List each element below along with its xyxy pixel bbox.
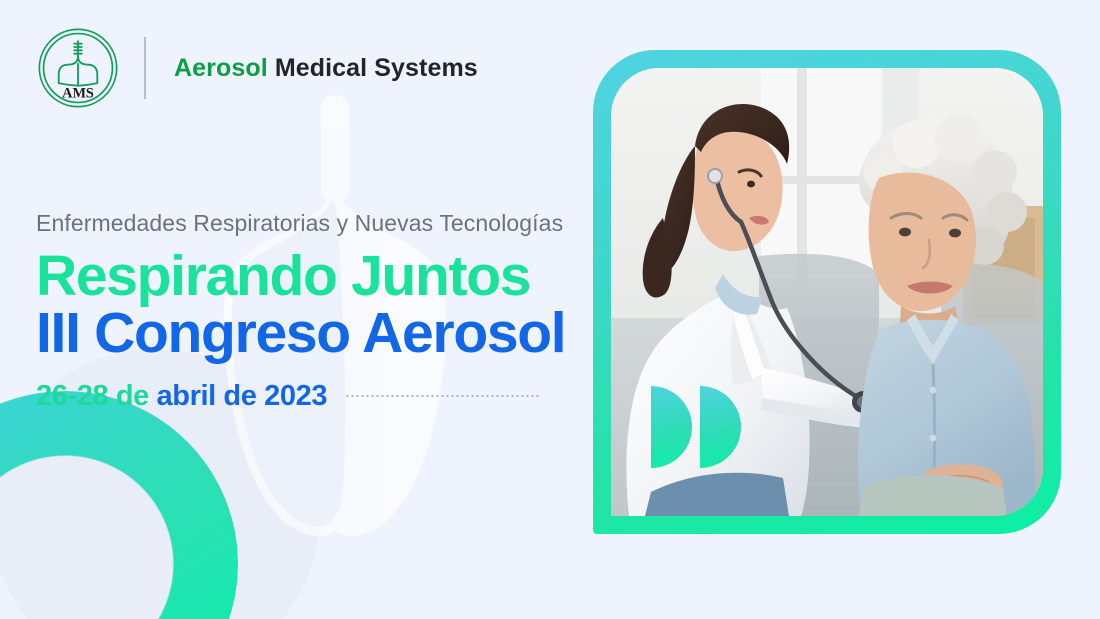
brand-name: Aerosol Medical Systems [174,54,478,83]
vertical-divider [144,37,146,99]
brand-name-highlight: Aerosol [174,54,268,82]
hero-title-line-1: Respirando Juntos [36,247,576,306]
double-half-disc-mark [651,386,741,468]
photo-inner [611,68,1043,516]
event-date: 26-28 de abril de 2023 [36,380,327,413]
half-disc-left [651,386,692,468]
congress-banner: AMS Aerosol Medical Systems Enfermedades… [0,0,1100,619]
brand-lockup: AMS Aerosol Medical Systems [36,26,478,110]
hero-text-block: Enfermedades Respiratorias y Nuevas Tecn… [36,210,576,413]
hero-title-line-2: III Congreso Aerosol [36,304,576,363]
event-date-row: 26-28 de abril de 2023 [36,380,576,413]
event-date-days: 26-28 de [36,380,157,412]
dotted-rule [345,395,540,397]
rounded-photo-frame [593,50,1061,534]
logo-monogram: AMS [62,85,94,101]
half-disc-right [700,386,741,468]
ams-lungs-logo: AMS [36,26,120,110]
event-date-month-year: abril de 2023 [157,380,328,412]
hero-eyebrow: Enfermedades Respiratorias y Nuevas Tecn… [36,210,576,237]
brand-name-rest: Medical Systems [268,54,478,82]
